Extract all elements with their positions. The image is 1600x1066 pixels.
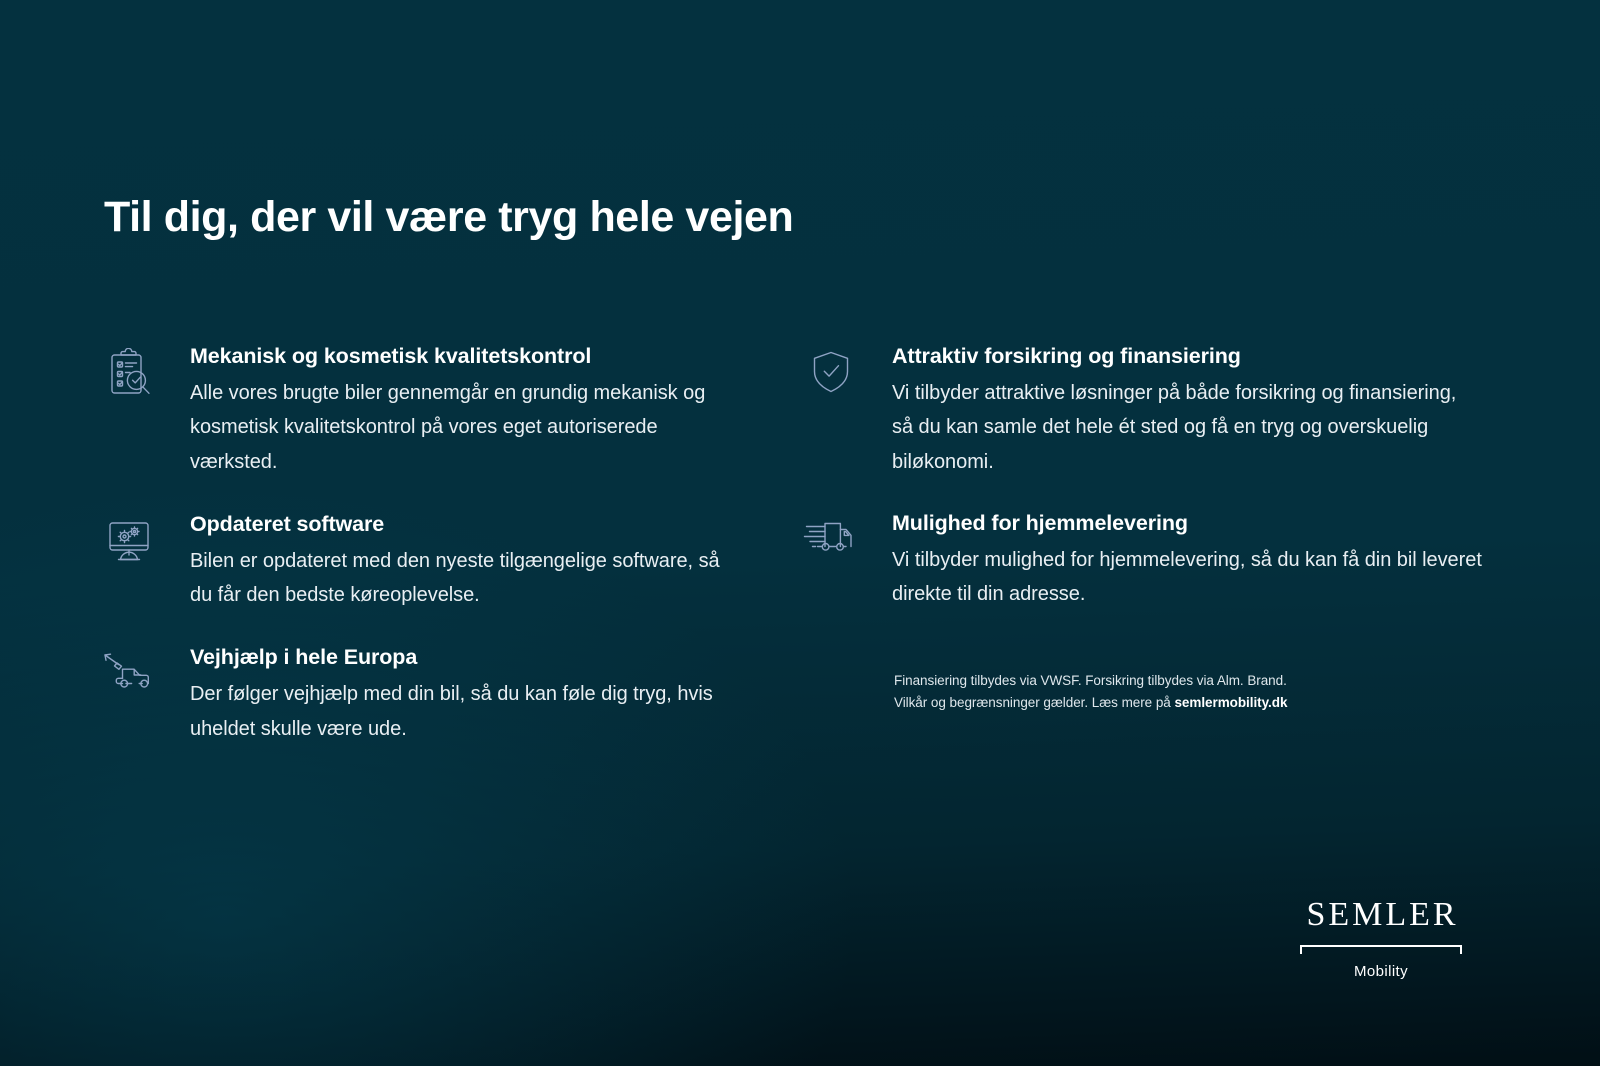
semlermobility-link[interactable]: semlermobility.dk — [1174, 695, 1287, 710]
feature-text: Mekanisk og kosmetisk kvalitetskontrol A… — [158, 344, 740, 479]
delivery-truck-icon — [802, 511, 860, 565]
feature-column-right: Attraktiv forsikring og finansiering Vi … — [802, 344, 1482, 611]
feature-description: Vi tilbyder attraktive løsninger på både… — [892, 376, 1482, 479]
logo-divider-tick-left — [1300, 945, 1302, 954]
promo-panel: Til dig, der vil være tryg hele vejen — [0, 0, 1600, 1066]
page-title: Til dig, der vil være tryg hele vejen — [104, 193, 793, 242]
disclaimer: Finansiering tilbydes via VWSF. Forsikri… — [894, 670, 1414, 714]
feature-description: Der følger vejhjælp med din bil, så du k… — [190, 677, 740, 746]
feature-item-quality-control: Mekanisk og kosmetisk kvalitetskontrol A… — [100, 344, 740, 479]
feature-item-roadside-assistance: Vejhjælp i hele Europa Der følger vejhjæ… — [100, 645, 740, 746]
tow-truck-icon — [100, 645, 158, 699]
logo-divider — [1300, 945, 1462, 954]
clipboard-checklist-magnifier-icon — [100, 344, 158, 398]
feature-title: Opdateret software — [190, 512, 740, 537]
semler-mobility-logo: SEMLER Mobility — [1300, 898, 1462, 980]
feature-item-insurance-financing: Attraktiv forsikring og finansiering Vi … — [802, 344, 1482, 479]
feature-item-updated-software: Opdateret software Bilen er opdateret me… — [100, 512, 740, 613]
feature-description: Vi tilbyder mulighed for hjemmelevering,… — [892, 543, 1482, 612]
shield-check-icon — [802, 344, 860, 398]
logo-subtitle: Mobility — [1300, 963, 1462, 980]
feature-column-left: Mekanisk og kosmetisk kvalitetskontrol A… — [100, 344, 740, 746]
feature-description: Bilen er opdateret med den nyeste tilgæn… — [190, 544, 740, 613]
feature-text: Attraktiv forsikring og finansiering Vi … — [860, 344, 1482, 479]
disclaimer-line-2-text: Vilkår og begrænsninger gælder. Læs mere… — [894, 695, 1174, 710]
disclaimer-line-1: Finansiering tilbydes via VWSF. Forsikri… — [894, 670, 1414, 692]
feature-description: Alle vores brugte biler gennemgår en gru… — [190, 376, 740, 479]
feature-title: Attraktiv forsikring og finansiering — [892, 344, 1482, 369]
feature-text: Vejhjælp i hele Europa Der følger vejhjæ… — [158, 645, 740, 746]
feature-title: Mulighed for hjemmelevering — [892, 511, 1482, 536]
logo-divider-tick-right — [1460, 945, 1462, 954]
feature-item-home-delivery: Mulighed for hjemmelevering Vi tilbyder … — [802, 511, 1482, 612]
feature-title: Mekanisk og kosmetisk kvalitetskontrol — [190, 344, 740, 369]
feature-text: Opdateret software Bilen er opdateret me… — [158, 512, 740, 613]
logo-divider-bar — [1300, 945, 1462, 947]
disclaimer-line-2: Vilkår og begrænsninger gælder. Læs mere… — [894, 692, 1414, 714]
feature-title: Vejhjælp i hele Europa — [190, 645, 740, 670]
feature-text: Mulighed for hjemmelevering Vi tilbyder … — [860, 511, 1482, 612]
logo-wordmark: SEMLER — [1300, 898, 1462, 932]
monitor-gears-icon — [100, 512, 158, 566]
